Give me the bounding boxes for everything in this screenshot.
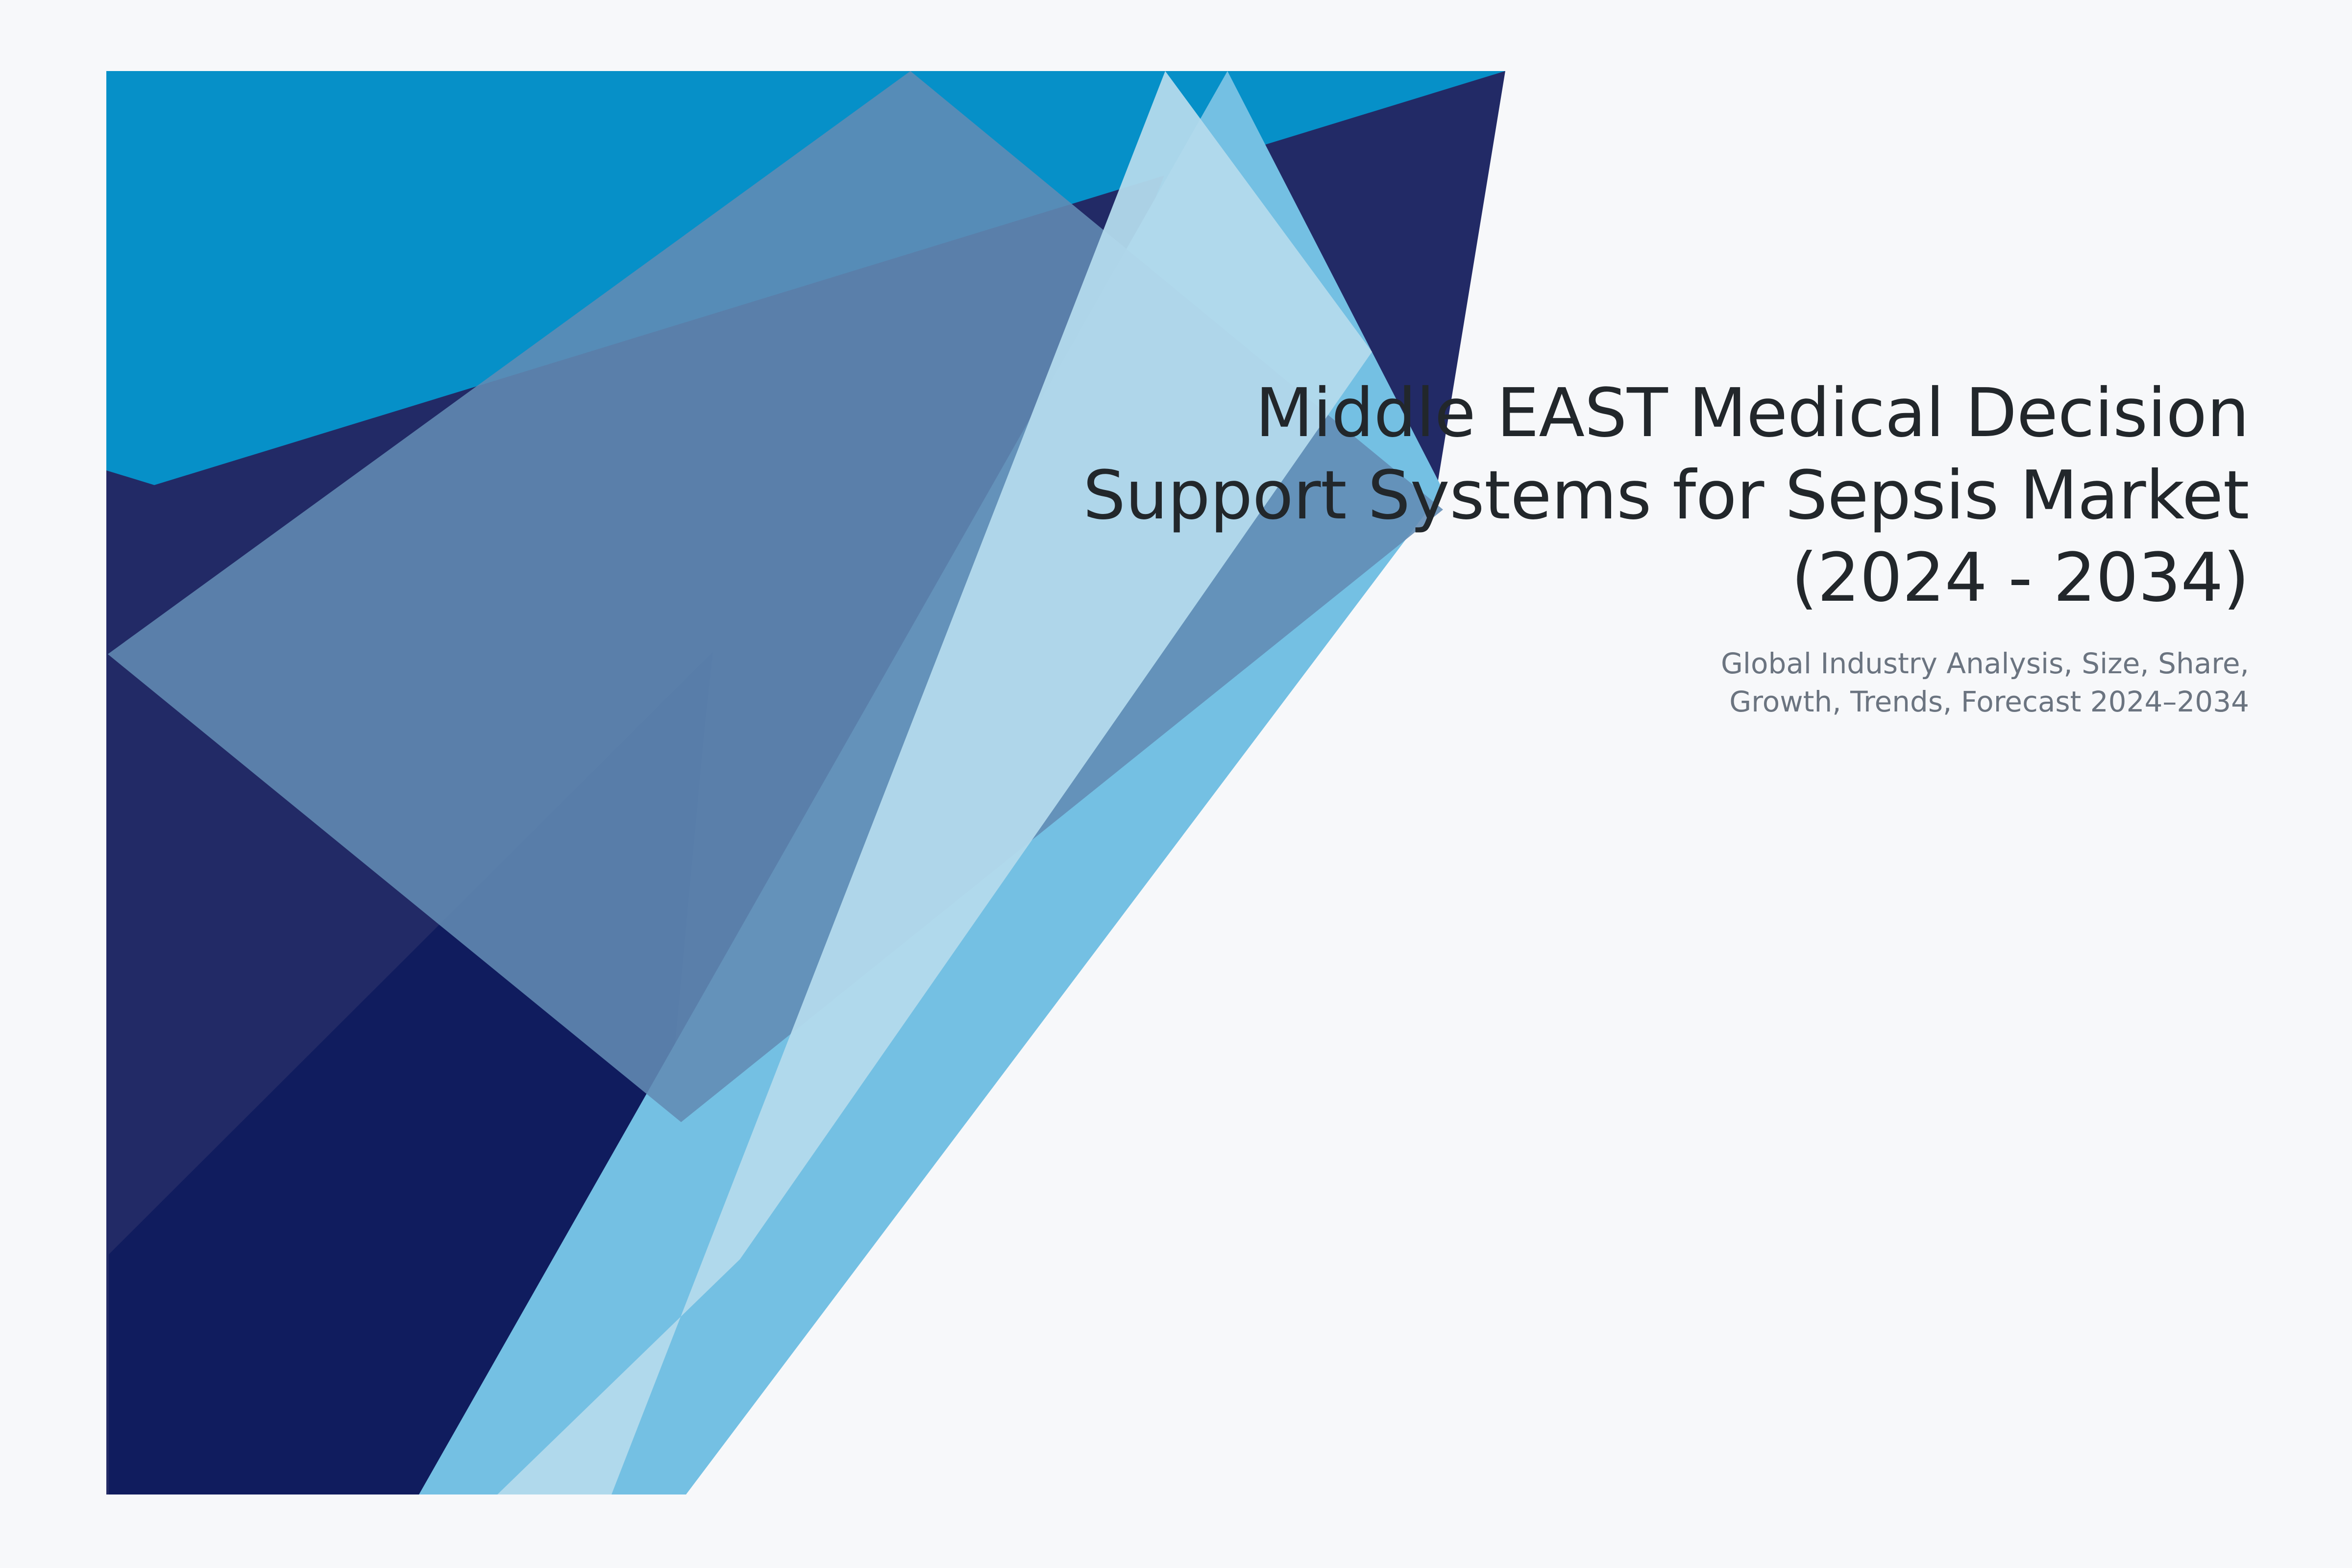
title-line-3: (2024 - 2034) [951, 537, 2249, 619]
abstract-geometric-cover-graphic [0, 0, 2352, 1568]
subtitle-line-1: Global Industry Analysis, Size, Share, [951, 644, 2249, 683]
subtitle-line-2: Growth, Trends, Forecast 2024–2034 [951, 683, 2249, 721]
title-line-2-text: Support Systems for Sepsis [1083, 457, 2020, 535]
page-subtitle: Global Industry Analysis, Size, Share, G… [951, 644, 2249, 721]
page-title: Middle EAST Medical Decision Support Sys… [951, 372, 2249, 619]
title-highlight-market: Market [2020, 455, 2249, 537]
title-line-1: Middle EAST Medical Decision [951, 372, 2249, 455]
title-line-2: Support Systems for Sepsis Market [951, 455, 2249, 537]
cover-page: Middle EAST Medical Decision Support Sys… [0, 0, 2352, 1568]
